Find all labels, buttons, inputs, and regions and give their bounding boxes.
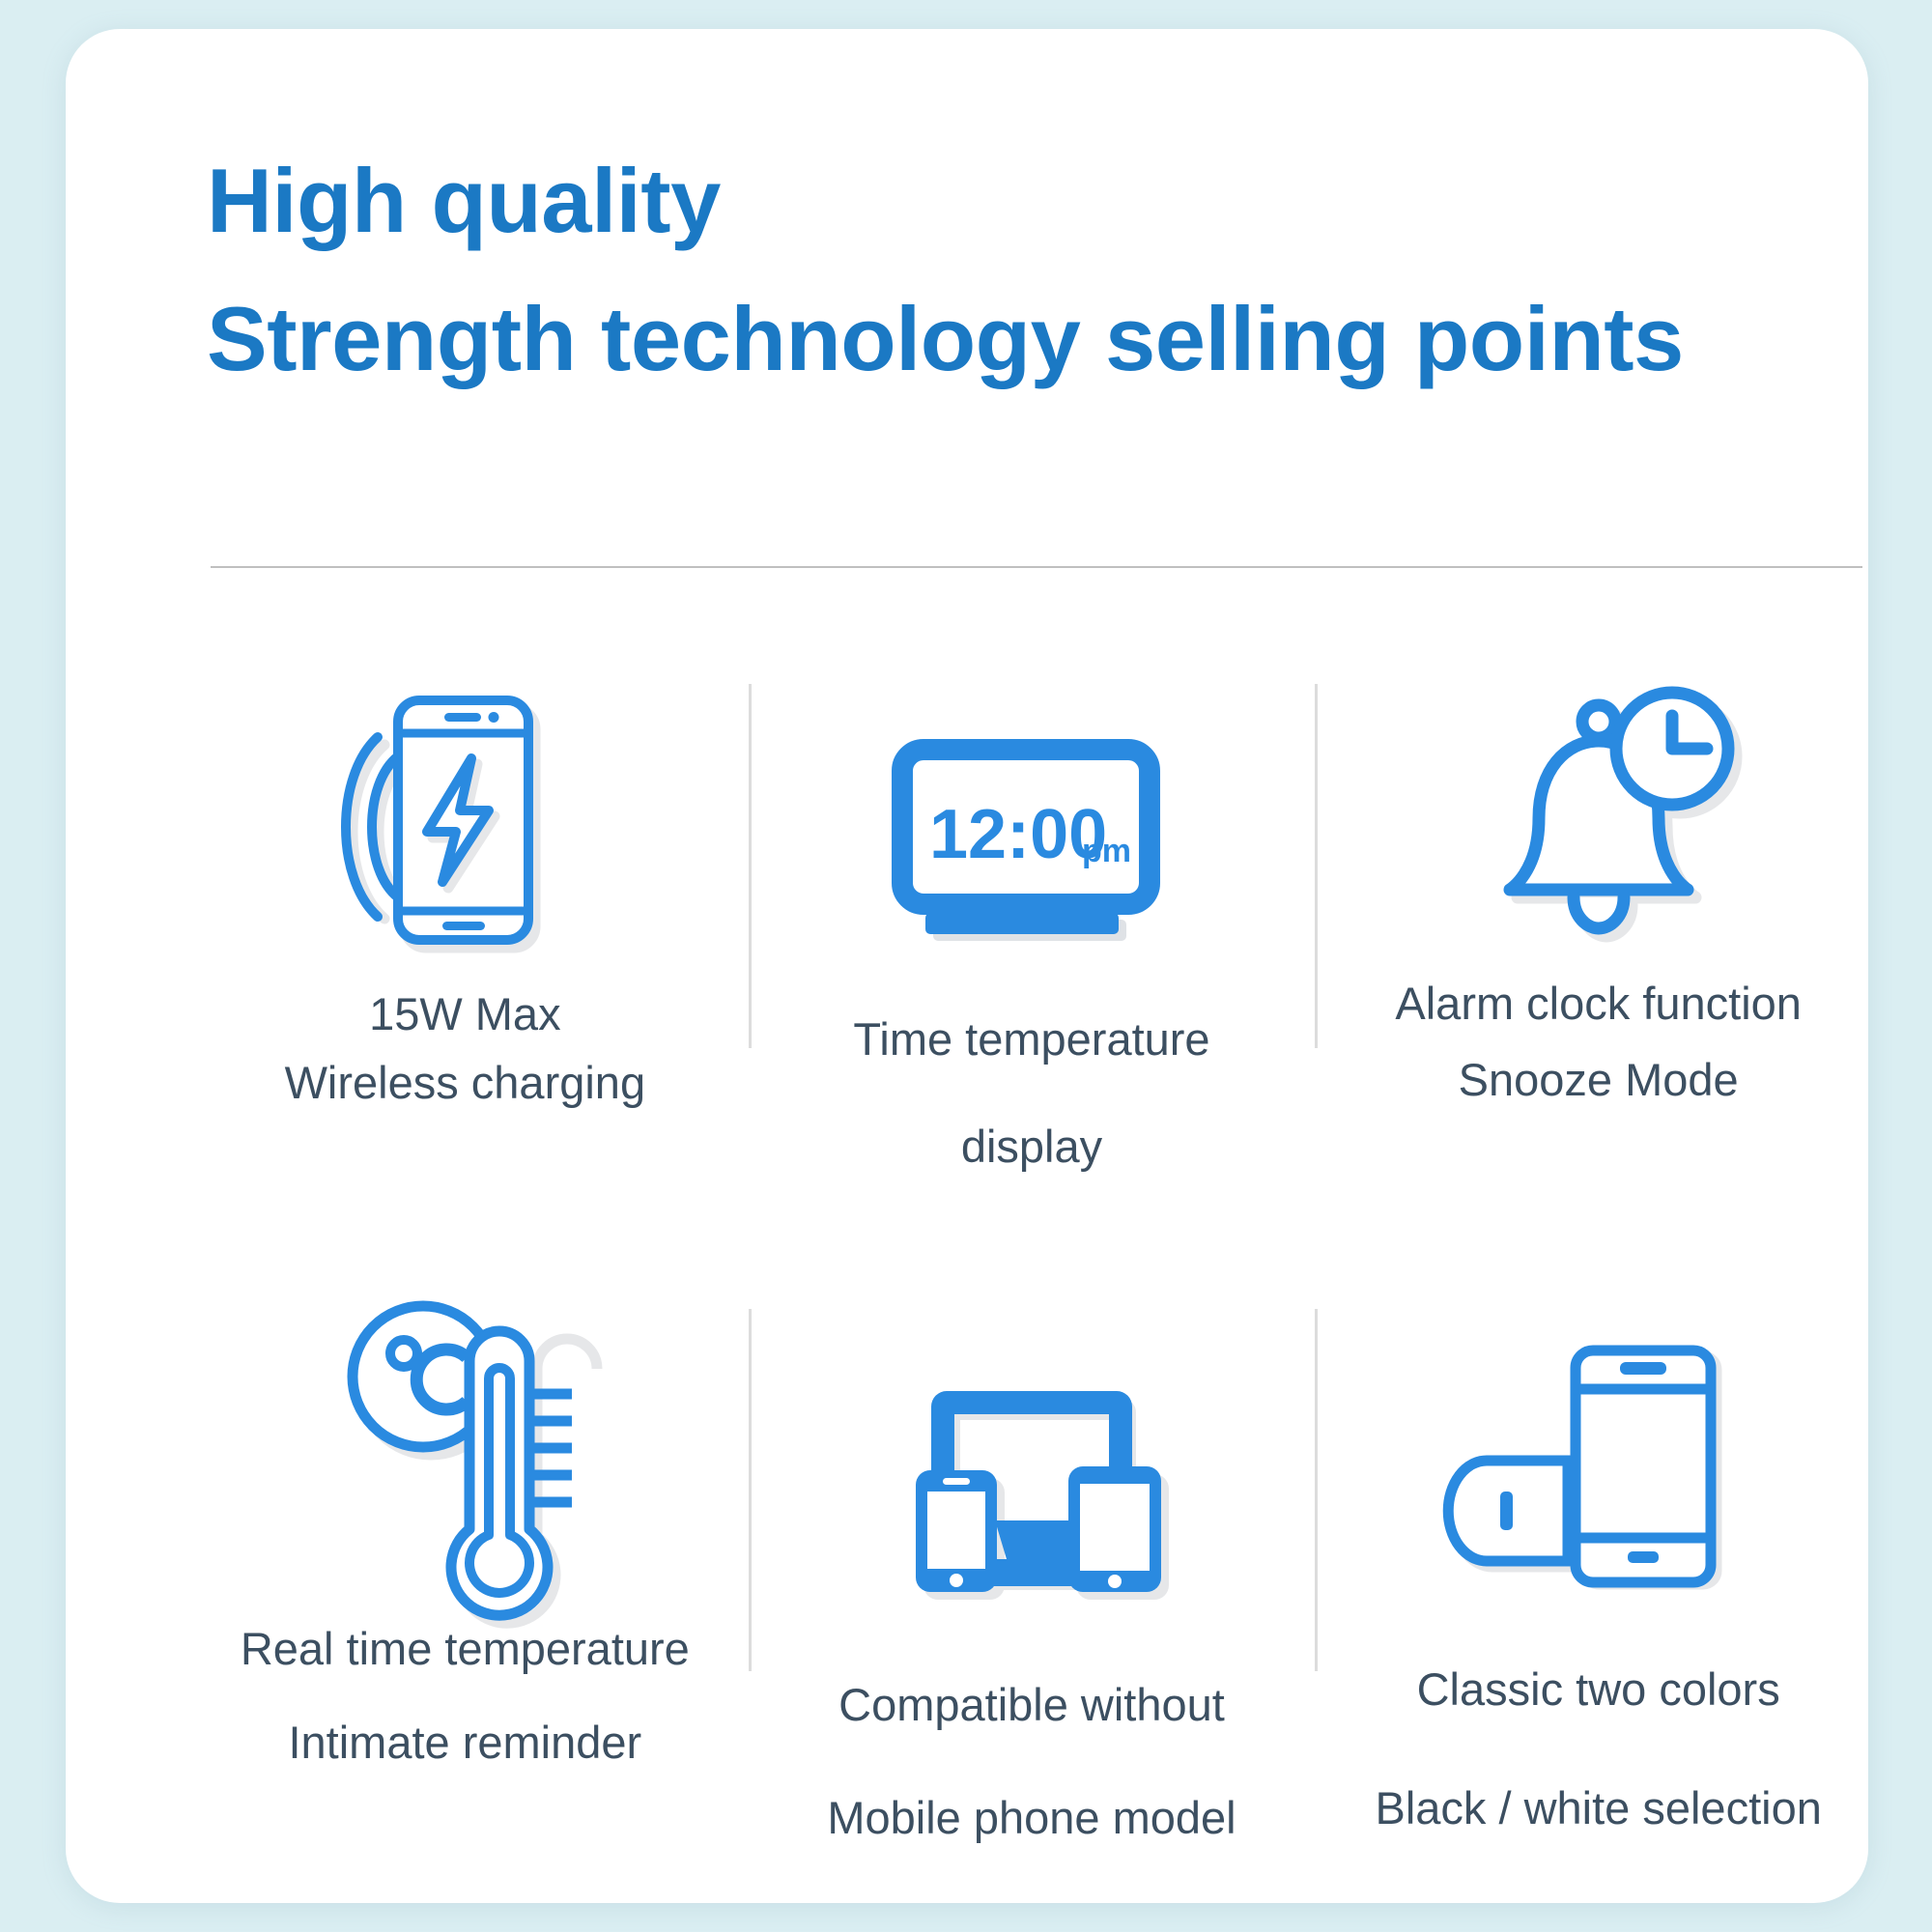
feature-caption-line2: Wireless charging	[285, 1048, 646, 1117]
page-title-line1: High quality	[207, 145, 1752, 257]
feature-item-time-display: 12:00 pm Time temperature display	[749, 667, 1316, 1261]
feature-caption-line2: Black / white selection	[1375, 1774, 1821, 1842]
digital-clock-display-icon: 12:00 pm	[887, 715, 1177, 966]
two-color-speaker-icon	[1454, 1315, 1744, 1605]
feature-caption-line1: 15W Max	[369, 980, 561, 1048]
feature-caption-line1: Compatible without	[838, 1670, 1225, 1739]
feature-caption-line1: Real time temperature	[241, 1614, 690, 1683]
feature-item-wireless-charging: 15W Max Wireless charging	[182, 667, 749, 1261]
feature-caption-line1: Classic two colors	[1417, 1655, 1780, 1723]
feature-card: High quality Strength technology selling…	[66, 29, 1868, 1903]
feature-item-temperature: Real time temperature Intimate reminder	[182, 1261, 749, 1855]
wireless-charging-phone-icon	[325, 676, 605, 976]
feature-item-compatibility: Compatible without Mobile phone model	[749, 1261, 1316, 1855]
page-title-line2: Strength technology selling points	[207, 282, 1752, 396]
feature-caption-line2: Snooze Mode	[1459, 1045, 1739, 1114]
feature-caption-line1: Time temperature	[853, 1005, 1209, 1073]
page-title-block: High quality Strength technology selling…	[207, 145, 1752, 396]
clock-time-text: 12:00	[929, 796, 1107, 873]
multi-device-compatible-icon	[887, 1336, 1177, 1626]
header-divider	[211, 566, 1862, 568]
feature-caption-line2: Intimate reminder	[288, 1708, 641, 1776]
feature-item-colors: Classic two colors Black / white selecti…	[1315, 1261, 1868, 1855]
feature-item-alarm-clock: Alarm clock function Snooze Mode	[1315, 667, 1868, 1261]
feature-caption-line1: Alarm clock function	[1395, 969, 1802, 1037]
clock-meridiem-text: pm	[1082, 833, 1131, 869]
feature-grid: 15W Max Wireless charging 12:00 pm Time …	[182, 667, 1868, 1855]
feature-caption-line2: Mobile phone model	[827, 1783, 1236, 1852]
alarm-bell-clock-icon	[1454, 681, 1744, 961]
thermometer-celsius-icon	[325, 1299, 605, 1589]
feature-caption-line2: display	[961, 1112, 1102, 1180]
infographic-page: High quality Strength technology selling…	[0, 0, 1932, 1932]
